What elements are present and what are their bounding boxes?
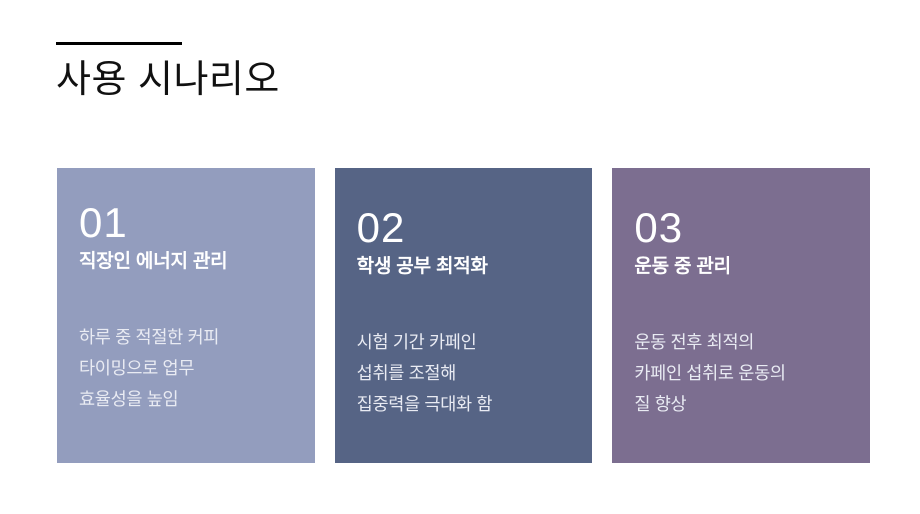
page-title: 사용 시나리오 [56, 59, 756, 103]
scenario-card-02-body-line-3: 집중력을 극대화 함 [357, 389, 575, 420]
scenario-card-01[interactable]: 01 직장인 에너지 관리 하루 중 적절한 커피 타이밍으로 업무 효율성을 … [57, 168, 315, 463]
scenario-card-list: 01 직장인 에너지 관리 하루 중 적절한 커피 타이밍으로 업무 효율성을 … [57, 168, 870, 463]
scenario-card-03-number: 03 [634, 207, 852, 249]
scenario-card-02-content: 02 학생 공부 최적화 시험 기간 카페인 섭취를 조절해 집중력을 극대화 … [357, 190, 575, 443]
scenario-card-02-title: 학생 공부 최적화 [357, 255, 575, 279]
slide-canvas: 사용 시나리오 01 직장인 에너지 관리 하루 중 적절한 커피 타이밍으로 … [0, 0, 920, 514]
scenario-card-03-content: 03 운동 중 관리 운동 전후 최적의 카페인 섭취로 운동의 질 향상 [634, 190, 852, 443]
scenario-card-02-body-line-1: 시험 기간 카페인 [357, 327, 575, 358]
slide-header: 사용 시나리오 [56, 42, 756, 103]
title-rule-divider [56, 42, 182, 45]
scenario-card-03-body-line-1: 운동 전후 최적의 [634, 327, 852, 358]
scenario-card-02[interactable]: 02 학생 공부 최적화 시험 기간 카페인 섭취를 조절해 집중력을 극대화 … [335, 168, 593, 463]
scenario-card-03-title: 운동 중 관리 [634, 255, 852, 279]
scenario-card-01-body-line-1: 하루 중 적절한 커피 [79, 322, 297, 353]
scenario-card-01-body-line-3: 효율성을 높임 [79, 384, 297, 415]
scenario-card-01-number: 01 [79, 202, 297, 244]
scenario-card-02-body-line-2: 섭취를 조절해 [357, 358, 575, 389]
scenario-card-01-title: 직장인 에너지 관리 [79, 250, 297, 274]
scenario-card-03-body-line-2: 카페인 섭취로 운동의 [634, 358, 852, 389]
scenario-card-03[interactable]: 03 운동 중 관리 운동 전후 최적의 카페인 섭취로 운동의 질 향상 [612, 168, 870, 463]
scenario-card-02-number: 02 [357, 207, 575, 249]
scenario-card-01-body-line-2: 타이밍으로 업무 [79, 353, 297, 384]
scenario-card-03-body-line-3: 질 향상 [634, 389, 852, 420]
scenario-card-03-body: 운동 전후 최적의 카페인 섭취로 운동의 질 향상 [634, 327, 852, 420]
scenario-card-01-body: 하루 중 적절한 커피 타이밍으로 업무 효율성을 높임 [79, 322, 297, 415]
scenario-card-01-content: 01 직장인 에너지 관리 하루 중 적절한 커피 타이밍으로 업무 효율성을 … [79, 190, 297, 443]
scenario-card-02-body: 시험 기간 카페인 섭취를 조절해 집중력을 극대화 함 [357, 327, 575, 420]
